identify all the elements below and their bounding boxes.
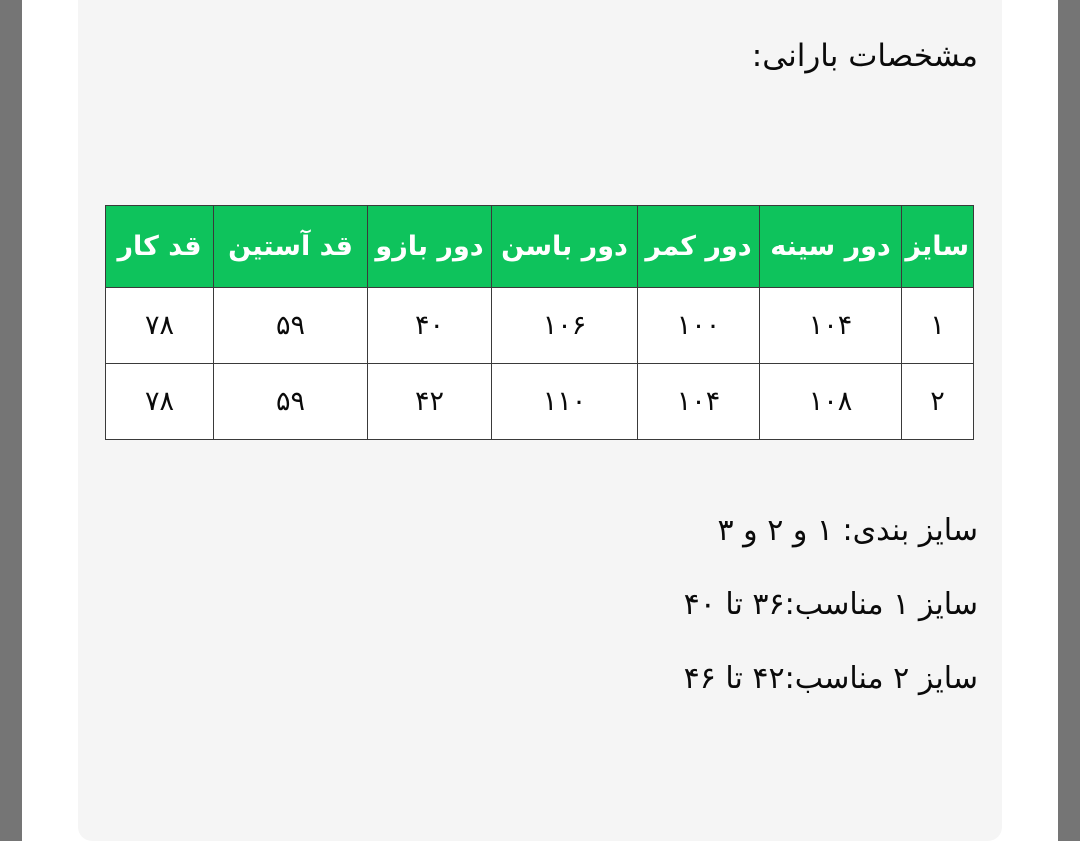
table-row: ۱ ۱۰۴ ۱۰۰ ۱۰۶ ۴۰ ۵۹ ۷۸ xyxy=(106,288,974,364)
cell-arm: ۴۲ xyxy=(368,364,492,440)
cell-hip: ۱۰۶ xyxy=(492,288,638,364)
column-header-hip: دور باسن xyxy=(492,206,638,288)
cell-chest: ۱۰۸ xyxy=(760,364,902,440)
page-title: مشخصات بارانی: xyxy=(102,0,978,75)
column-header-arm: دور بازو xyxy=(368,206,492,288)
note-size-2-fit: سایز ۲ مناسب:۴۲ تا ۴۶ xyxy=(106,664,978,694)
cell-sleeve: ۵۹ xyxy=(214,364,368,440)
cell-waist: ۱۰۴ xyxy=(638,364,760,440)
cell-size: ۲ xyxy=(902,364,974,440)
cell-chest: ۱۰۴ xyxy=(760,288,902,364)
product-details-panel: مشخصات بارانی: سایز دور سینه دور کمر دور… xyxy=(78,0,1002,841)
note-size-1-fit: سایز ۱ مناسب:۳۶ تا ۴۰ xyxy=(106,590,978,620)
size-table-container: سایز دور سینه دور کمر دور باسن دور بازو … xyxy=(102,205,978,440)
column-header-size: سایز xyxy=(902,206,974,288)
left-chrome-rail xyxy=(0,0,22,841)
cell-length: ۷۸ xyxy=(106,364,214,440)
cell-waist: ۱۰۰ xyxy=(638,288,760,364)
column-header-sleeve: قد آستین xyxy=(214,206,368,288)
cell-hip: ۱۱۰ xyxy=(492,364,638,440)
column-header-chest: دور سینه xyxy=(760,206,902,288)
table-header-row: سایز دور سینه دور کمر دور باسن دور بازو … xyxy=(106,206,974,288)
cell-sleeve: ۵۹ xyxy=(214,288,368,364)
size-chart-table: سایز دور سینه دور کمر دور باسن دور بازو … xyxy=(105,205,974,440)
screenshot-root: مشخصات بارانی: سایز دور سینه دور کمر دور… xyxy=(0,0,1080,841)
table-row: ۲ ۱۰۸ ۱۰۴ ۱۱۰ ۴۲ ۵۹ ۷۸ xyxy=(106,364,974,440)
cell-size: ۱ xyxy=(902,288,974,364)
cell-length: ۷۸ xyxy=(106,288,214,364)
column-header-waist: دور کمر xyxy=(638,206,760,288)
size-notes: سایز بندی: ۱ و ۲ و ۳ سایز ۱ مناسب:۳۶ تا … xyxy=(102,516,978,694)
note-sizing-range: سایز بندی: ۱ و ۲ و ۳ xyxy=(106,516,978,546)
right-chrome-rail xyxy=(1058,0,1080,841)
column-header-length: قد کار xyxy=(106,206,214,288)
cell-arm: ۴۰ xyxy=(368,288,492,364)
